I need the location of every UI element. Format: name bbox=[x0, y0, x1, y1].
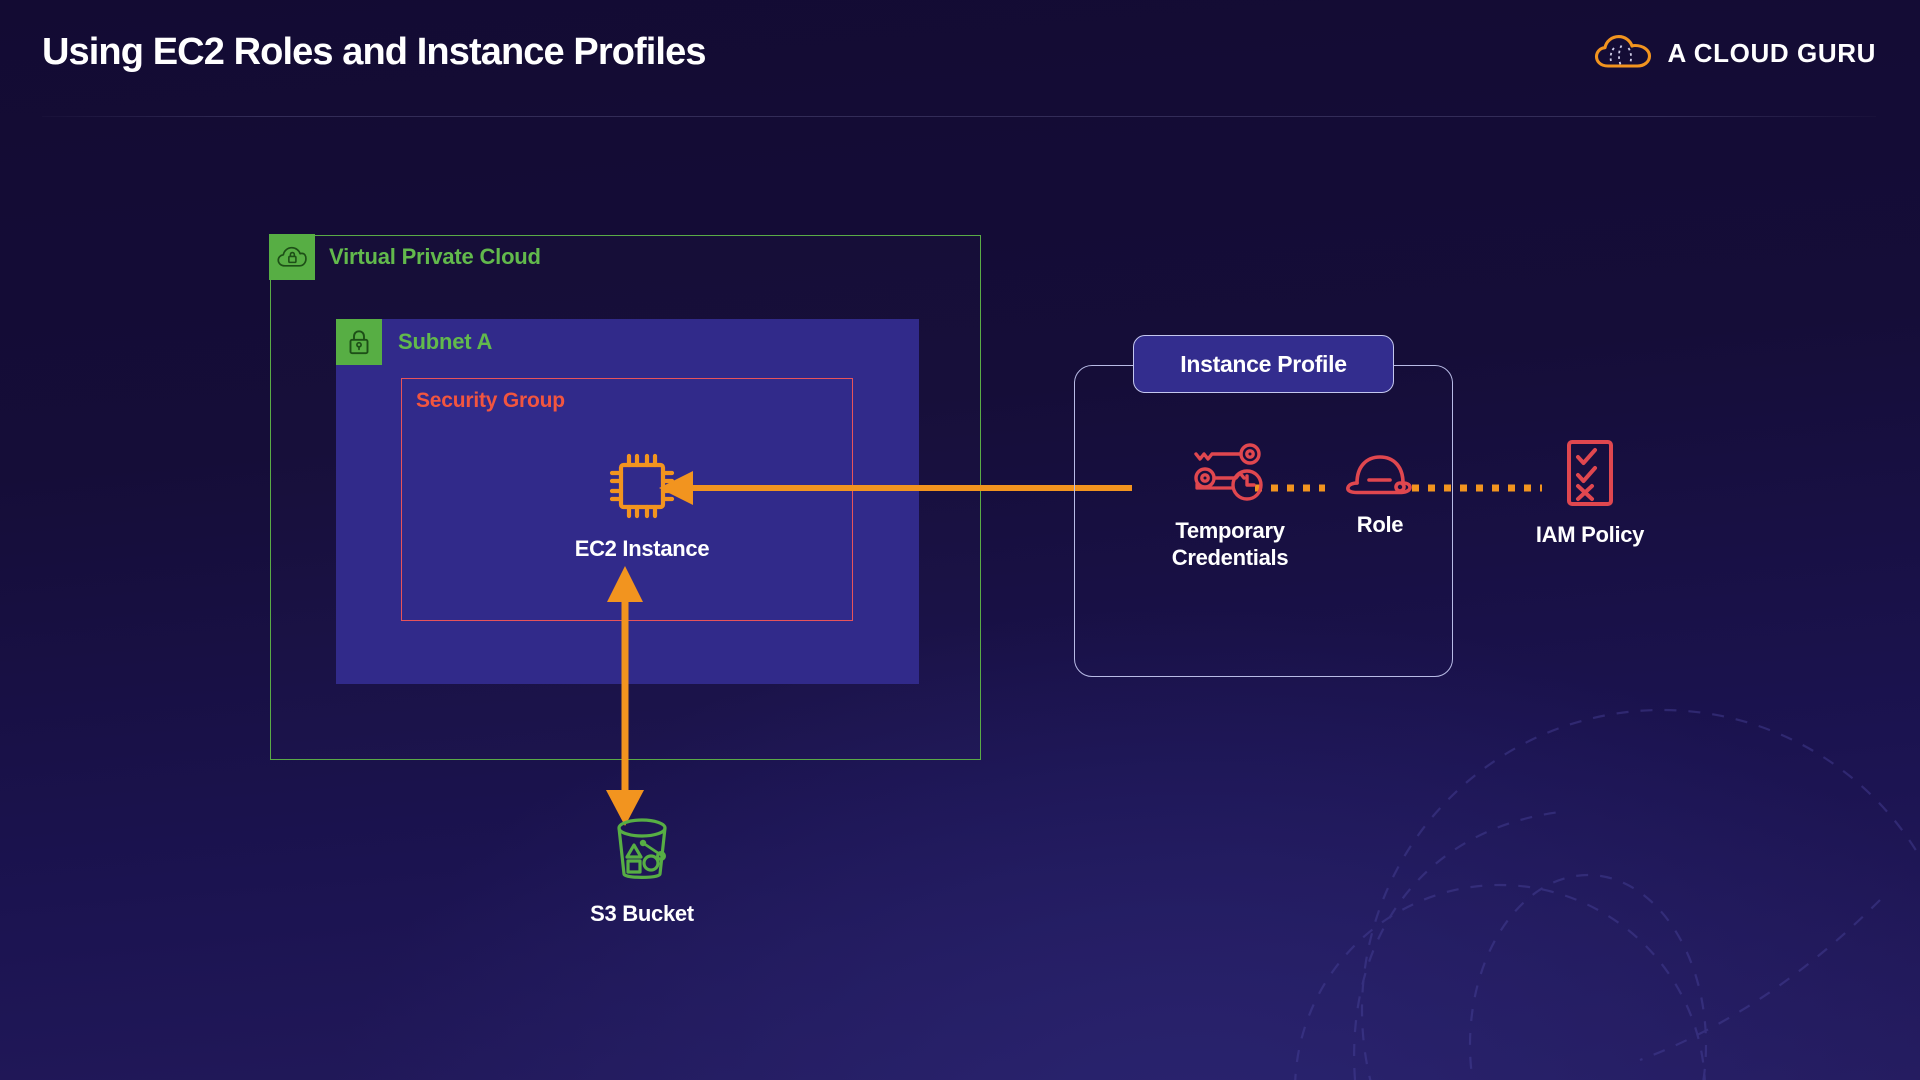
vpc-label: Virtual Private Cloud bbox=[329, 244, 541, 270]
node-s3-bucket: S3 Bucket bbox=[562, 815, 722, 928]
node-ec2-instance-label: EC2 Instance bbox=[575, 536, 710, 563]
page-title: Using EC2 Roles and Instance Profiles bbox=[42, 31, 706, 74]
cloud-icon bbox=[1594, 32, 1654, 74]
keys-clock-icon bbox=[1188, 440, 1272, 506]
node-ec2-instance: EC2 Instance bbox=[562, 448, 722, 563]
security-group-label: Security Group bbox=[416, 389, 565, 413]
node-iam-policy: IAM Policy bbox=[1500, 438, 1680, 549]
instance-profile-badge: Instance Profile bbox=[1133, 335, 1394, 393]
node-temporary-credentials: Temporary Credentials bbox=[1130, 440, 1330, 572]
cloud-lock-icon bbox=[269, 234, 315, 280]
brand-logo: A CLOUD GURU bbox=[1594, 32, 1876, 74]
bucket-icon bbox=[603, 815, 681, 889]
node-role-label: Role bbox=[1357, 512, 1403, 539]
node-iam-policy-label: IAM Policy bbox=[1536, 522, 1644, 549]
padlock-icon bbox=[336, 319, 382, 365]
node-role: Role bbox=[1320, 450, 1440, 539]
subnet-header: Subnet A bbox=[336, 319, 492, 365]
slide-canvas: Using EC2 Roles and Instance Profiles A … bbox=[0, 0, 1920, 1080]
brand-name: A CLOUD GURU bbox=[1668, 38, 1876, 69]
vpc-header: Virtual Private Cloud bbox=[269, 234, 541, 280]
cpu-chip-icon bbox=[604, 448, 680, 524]
node-temporary-credentials-label: Temporary Credentials bbox=[1172, 518, 1289, 572]
policy-checklist-icon bbox=[1561, 438, 1619, 510]
subnet-label: Subnet A bbox=[398, 329, 492, 355]
slide-header: Using EC2 Roles and Instance Profiles A … bbox=[0, 0, 1920, 120]
instance-profile-label: Instance Profile bbox=[1180, 351, 1346, 378]
header-divider bbox=[42, 116, 1876, 117]
node-s3-bucket-label: S3 Bucket bbox=[590, 901, 694, 928]
hard-hat-icon bbox=[1343, 450, 1417, 500]
